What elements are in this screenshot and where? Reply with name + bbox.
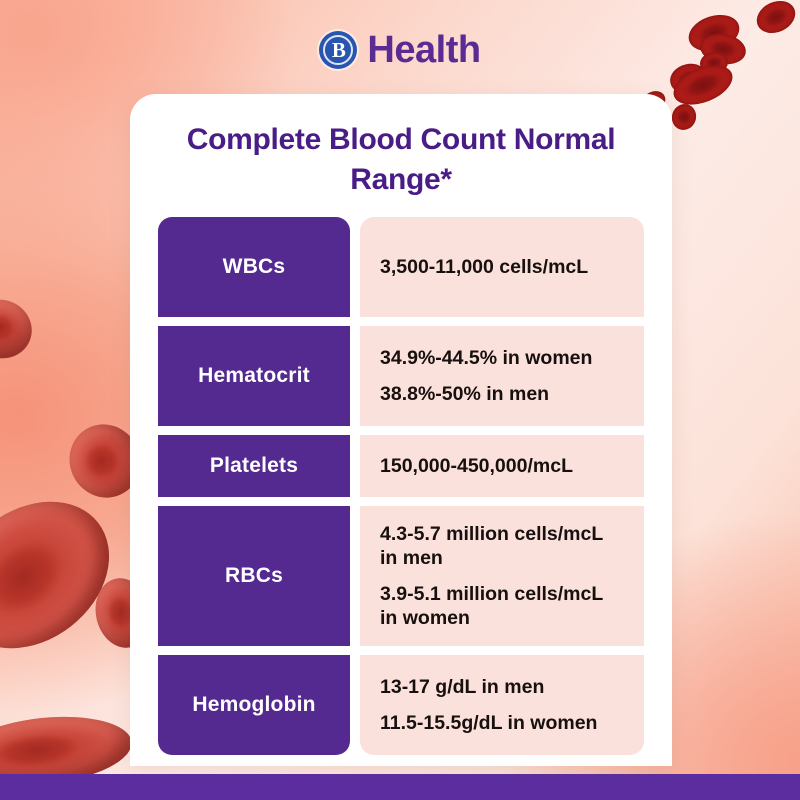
logo-letter: B [332,40,345,61]
value-line: 150,000-450,000/mcL [380,454,624,478]
cbc-range-table: WBCs 3,500-11,000 cells/mcL Hematocrit 3… [158,217,644,755]
row-label: RBCs [158,506,350,646]
table-row: Hematocrit 34.9%-44.5% in women 38.8%-50… [158,326,644,426]
red-blood-cell-icon [0,471,138,678]
value-line: 38.8%-50% in men [380,382,624,406]
value-line: 3,500-11,000 cells/mcL [380,255,624,279]
infographic-canvas: B Health Complete Blood Count Normal Ran… [0,0,800,800]
table-row: Hemoglobin 13-17 g/dL in men 11.5-15.5g/… [158,655,644,755]
row-values: 13-17 g/dL in men 11.5-15.5g/dL in women [360,655,644,755]
table-row: WBCs 3,500-11,000 cells/mcL [158,217,644,317]
table-row: RBCs 4.3-5.7 million cells/mcL in men 3.… [158,506,644,646]
row-label: WBCs [158,217,350,317]
content-card: Complete Blood Count Normal Range* WBCs … [130,94,672,766]
row-label: Hematocrit [158,326,350,426]
table-row: Platelets 150,000-450,000/mcL [158,435,644,497]
page-title: Complete Blood Count Normal Range* [158,120,644,199]
red-blood-cell-icon [668,101,699,134]
row-values: 34.9%-44.5% in women 38.8%-50% in men [360,326,644,426]
bajaj-b-circle-icon: B [319,31,357,69]
value-line: 11.5-15.5g/dL in women [380,711,624,735]
brand-header: B Health [0,24,800,76]
row-label: Platelets [158,435,350,497]
red-blood-cell-icon [0,290,41,367]
value-line: 34.9%-44.5% in women [380,346,624,370]
brand-name: Health [367,29,480,72]
row-values: 4.3-5.7 million cells/mcL in men 3.9-5.1… [360,506,644,646]
value-line: 3.9-5.1 million cells/mcL in women [380,582,624,631]
bottom-accent-bar [0,774,800,800]
value-line: 4.3-5.7 million cells/mcL in men [380,522,624,571]
row-values: 3,500-11,000 cells/mcL [360,217,644,317]
value-line: 13-17 g/dL in men [380,675,624,699]
row-values: 150,000-450,000/mcL [360,435,644,497]
row-label: Hemoglobin [158,655,350,755]
